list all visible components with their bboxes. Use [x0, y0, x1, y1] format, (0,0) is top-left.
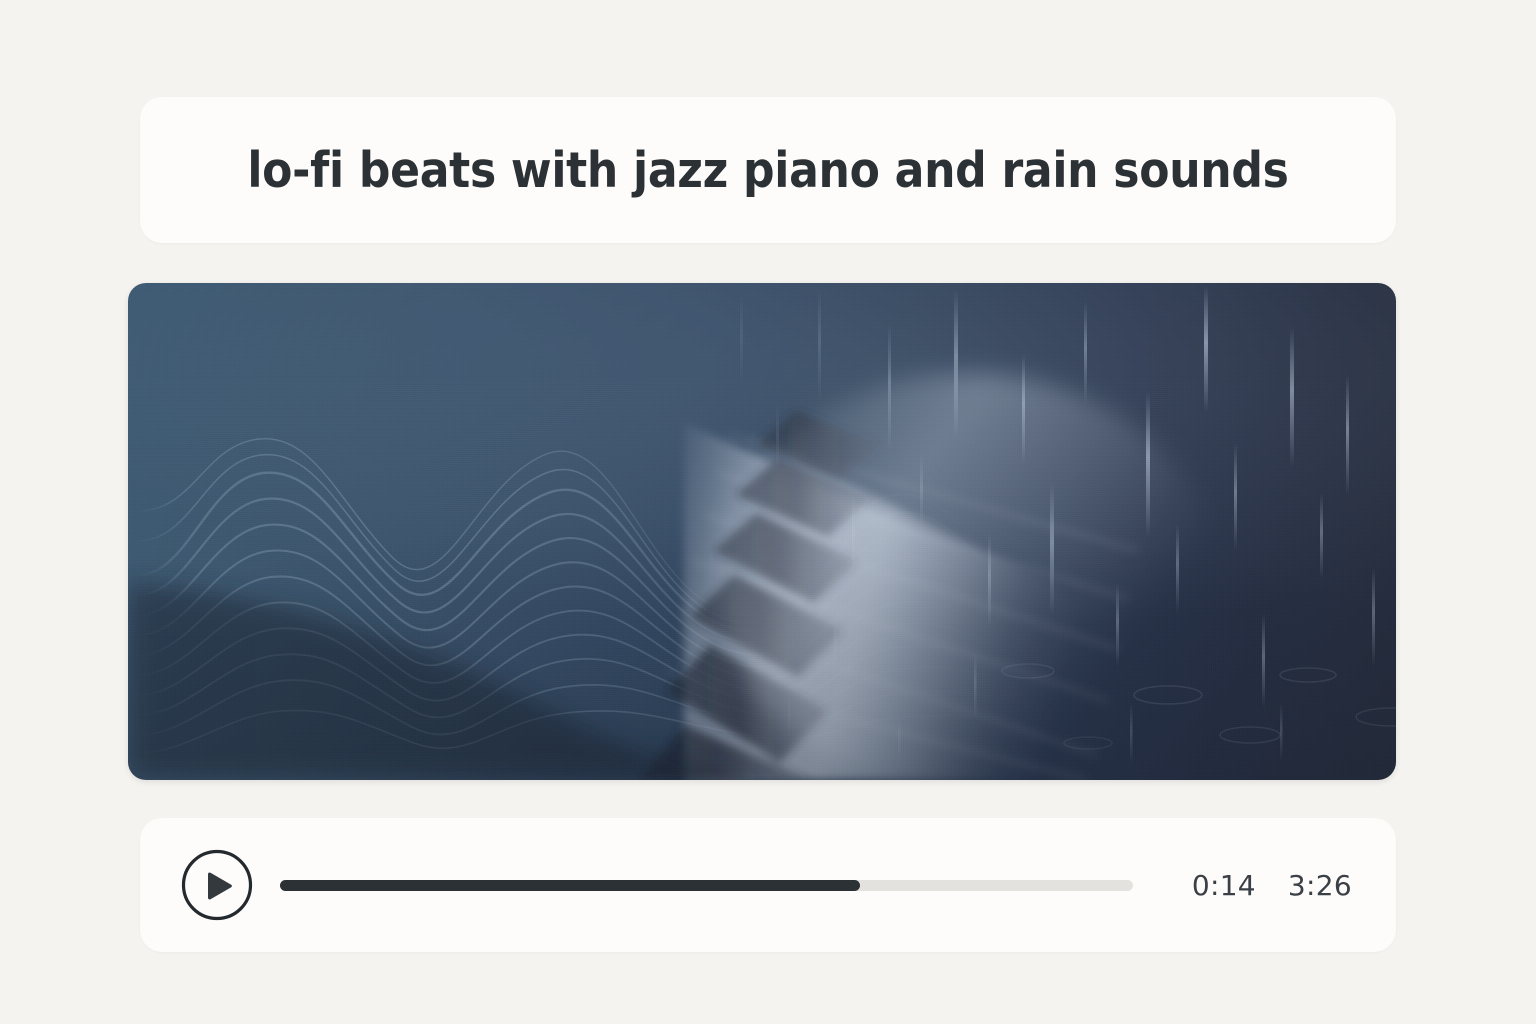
play-button[interactable] — [181, 849, 253, 921]
progress-track[interactable] — [280, 880, 1133, 891]
current-time: 0:14 — [1192, 869, 1256, 902]
audio-player-bar: 0:14 3:26 — [140, 818, 1396, 952]
page-title: lo-fi beats with jazz piano and rain sou… — [247, 142, 1288, 199]
play-icon — [181, 849, 253, 921]
rain-graphic — [128, 283, 1396, 780]
artwork-panel[interactable] — [128, 283, 1396, 780]
title-card: lo-fi beats with jazz piano and rain sou… — [140, 97, 1396, 243]
app-root: lo-fi beats with jazz piano and rain sou… — [0, 0, 1536, 1024]
time-display: 0:14 3:26 — [1192, 869, 1352, 902]
progress-fill — [280, 880, 860, 891]
progress-slider[interactable] — [280, 818, 1156, 952]
total-time: 3:26 — [1288, 869, 1352, 902]
